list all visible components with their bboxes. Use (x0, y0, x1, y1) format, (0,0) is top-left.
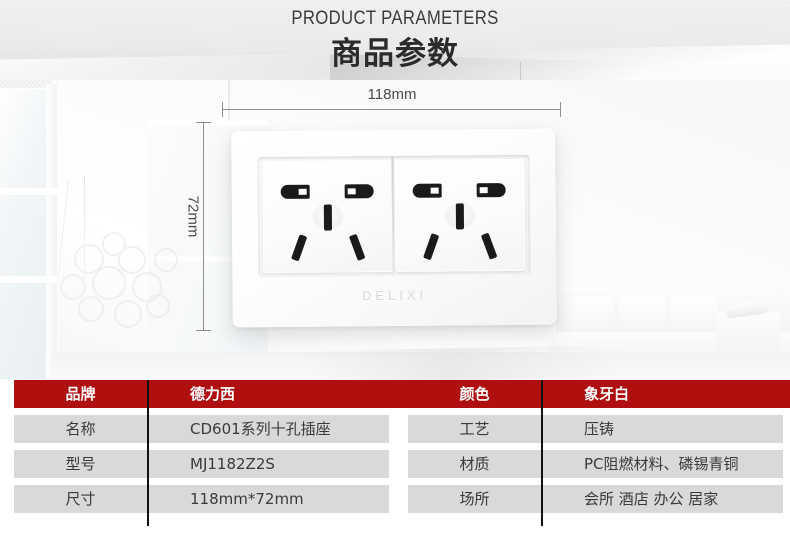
table-row: 场所 会所 酒店 办公 居家 (408, 485, 783, 513)
angled-pin-slot-left (423, 233, 439, 260)
spec-label: 品牌 (14, 380, 147, 408)
specification-tables: 品牌 德力西 名称 CD601系列十孔插座 型号 MJ1182Z2S 尺寸 11… (0, 380, 790, 543)
spec-column-divider (147, 380, 149, 526)
spec-table-right: 颜色 象牙白 工艺 压铸 材质 PC阻燃材料、磷锡青铜 场所 会所 酒店 办公 … (408, 380, 783, 520)
spec-value: CD601系列十孔插座 (190, 415, 389, 443)
socket-outlet-right (394, 159, 525, 272)
window-left-post (46, 84, 57, 380)
width-dimension-label: 118mm (322, 86, 462, 103)
spec-value: 压铸 (584, 415, 783, 443)
width-dimension-line (222, 109, 561, 110)
spec-label: 尺寸 (14, 485, 147, 513)
table-row: 尺寸 118mm*72mm (14, 485, 389, 513)
spec-table-left: 品牌 德力西 名称 CD601系列十孔插座 型号 MJ1182Z2S 尺寸 11… (14, 380, 389, 520)
spec-value: 会所 酒店 办公 居家 (584, 485, 783, 513)
flat-pin-slot-left-notch (431, 188, 439, 194)
height-dimension-line (203, 122, 204, 330)
socket-brand-emboss: DELIXI (233, 287, 557, 305)
spec-label: 场所 (408, 485, 541, 513)
decorative-sculpture (58, 230, 182, 350)
window-left-mullion-lower (0, 276, 58, 283)
spec-label: 型号 (14, 450, 147, 478)
earth-pin-slot (324, 205, 332, 231)
floor-reflection (300, 345, 631, 380)
spec-label: 工艺 (408, 415, 541, 443)
spec-value: 象牙白 (584, 380, 790, 408)
spec-value: PC阻燃材料、磷锡青铜 (584, 450, 783, 478)
table-row: 名称 CD601系列十孔插座 (14, 415, 389, 443)
page-title-english: PRODUCT PARAMETERS (47, 8, 742, 30)
spec-column-divider (541, 380, 543, 526)
product-photo-scene: 118mm 72mm (0, 80, 790, 380)
spec-label: 名称 (14, 415, 147, 443)
sofa-cushion (618, 296, 666, 336)
socket-outlet-left (262, 160, 393, 273)
angled-pin-slot-right (481, 233, 498, 260)
width-dimension-tick-right (560, 102, 561, 117)
wall-socket-product: DELIXI (231, 129, 557, 328)
table-row: 工艺 压铸 (408, 415, 783, 443)
height-dimension-tick-bottom (196, 330, 211, 331)
window-left-mullion-upper (0, 188, 58, 195)
spec-label: 颜色 (408, 380, 541, 408)
sofa-cushion (670, 296, 718, 336)
table-row: 型号 MJ1182Z2S (14, 450, 389, 478)
width-dimension-tick-left (222, 102, 223, 117)
flat-pin-slot-right-notch (480, 187, 488, 193)
angled-pin-slot-left (291, 234, 307, 261)
table-row: 材质 PC阻燃材料、磷锡青铜 (408, 450, 783, 478)
page-header-banner: PRODUCT PARAMETERS 商品参数 (0, 0, 790, 80)
flat-pin-slot-left-notch (299, 189, 307, 195)
height-dimension-tick-top (196, 122, 211, 123)
spec-label: 材质 (408, 450, 541, 478)
spec-value: MJ1182Z2S (190, 450, 389, 478)
spec-value: 118mm*72mm (190, 485, 389, 513)
table-row: 颜色 象牙白 (408, 380, 790, 408)
flat-pin-slot-right-notch (348, 188, 356, 194)
window-right-header (148, 120, 268, 126)
product-parameters-page: PRODUCT PARAMETERS 商品参数 (0, 0, 790, 543)
page-title-chinese: 商品参数 (0, 28, 790, 73)
decor-stem-primary (84, 176, 85, 292)
earth-pin-slot (456, 203, 464, 229)
sofa-cushion (566, 296, 614, 336)
angled-pin-slot-right (349, 234, 366, 261)
height-dimension-label: 72mm (185, 177, 202, 257)
